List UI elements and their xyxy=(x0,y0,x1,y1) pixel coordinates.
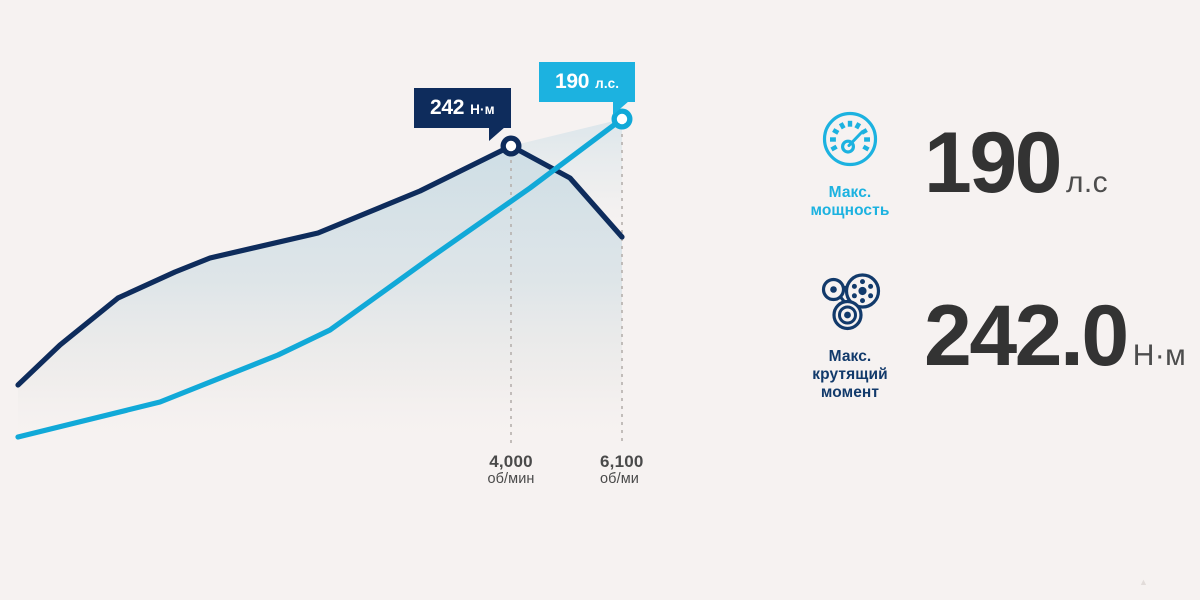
watermark: ▲ xyxy=(1139,578,1148,587)
stat-max-power-caption-line1: Макс. xyxy=(829,184,872,201)
torque-area-fill xyxy=(18,146,622,448)
torque-callout-value: 242 xyxy=(430,97,464,118)
stat-max-torque-value: 242.0 xyxy=(924,298,1127,375)
x-tick-unit-4000: об/мин xyxy=(466,471,556,487)
x-tick-unit-6100: об/ми xyxy=(586,471,676,487)
torque-callout-unit: Н·м xyxy=(470,103,495,117)
torque-callout-tail xyxy=(489,127,505,141)
power-callout-value: 190 xyxy=(555,71,589,92)
x-tick-label-4000: 4,000 об/мин xyxy=(466,452,556,487)
power-callout-unit: л.с. xyxy=(595,77,619,91)
stat-max-torque-caption: Макс. крутящий момент xyxy=(812,348,887,402)
torque-callout-badge: 242 Н·м xyxy=(414,88,511,128)
x-tick-value-6100: 6,100 xyxy=(586,452,676,471)
stat-max-torque-caption-line2: крутящий xyxy=(812,366,887,383)
belt-pulley-icon xyxy=(817,272,883,339)
engine-stats-panel: Макс. мощность 190 л.с xyxy=(760,0,1200,600)
stat-max-power-value: 190 xyxy=(924,125,1060,202)
stat-max-power-left: Макс. мощность xyxy=(788,108,912,220)
x-tick-label-6100: 6,100 об/ми xyxy=(586,452,676,487)
stat-max-power-caption-line2: мощность xyxy=(811,202,890,219)
stat-max-torque-unit: Н·м xyxy=(1133,339,1186,373)
stat-max-power-unit: л.с xyxy=(1066,166,1108,200)
stat-max-power-caption: Макс. мощность xyxy=(811,184,890,220)
stat-max-torque-left: Макс. крутящий момент xyxy=(788,272,912,402)
stat-max-power-right: 190 л.с xyxy=(924,125,1108,202)
stat-max-torque-right: 242.0 Н·м xyxy=(924,298,1186,375)
infographic-root: 242 Н·м 190 л.с. 4,000 об/мин 6,100 об/м… xyxy=(0,0,1200,600)
engine-performance-chart: 242 Н·м 190 л.с. 4,000 об/мин 6,100 об/м… xyxy=(0,0,700,600)
stat-max-torque-caption-line3: момент xyxy=(821,384,879,401)
x-tick-value-4000: 4,000 xyxy=(466,452,556,471)
gauge-icon xyxy=(819,108,881,175)
power-callout-tail xyxy=(613,101,629,115)
stat-max-torque: Макс. крутящий момент 242.0 Н·м xyxy=(788,272,1186,402)
stat-max-power: Макс. мощность 190 л.с xyxy=(788,108,1108,220)
stat-max-torque-caption-line1: Макс. xyxy=(829,348,872,365)
power-callout-badge: 190 л.с. xyxy=(539,62,635,102)
